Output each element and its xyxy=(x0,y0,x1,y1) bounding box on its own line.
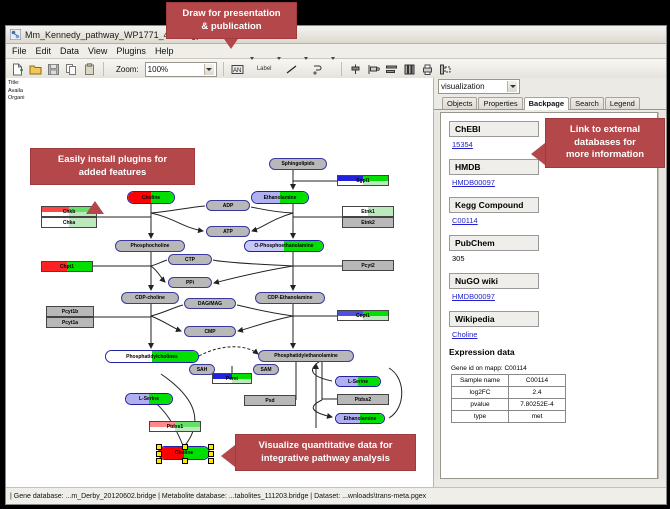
metabolite-node[interactable]: Ethanolamine xyxy=(335,413,385,424)
toolbar-separator-3 xyxy=(341,62,342,76)
pathway-edges xyxy=(6,78,433,487)
annotation-visualize: Visualize quantitative data forintegrati… xyxy=(235,434,416,471)
chevron-down-icon[interactable] xyxy=(507,81,517,92)
gene-label: Pcyt1b xyxy=(62,309,78,315)
pathvisio-app-icon xyxy=(10,29,21,40)
gene-label: Pemt xyxy=(226,376,238,382)
node-label: CMP xyxy=(204,329,215,335)
annotation-visualize-arrow xyxy=(221,445,235,467)
selection-handle[interactable] xyxy=(156,451,162,457)
metabolite-node[interactable]: ATP xyxy=(206,226,250,237)
metabolite-node[interactable]: L-Serine xyxy=(125,393,173,405)
gene-product-node[interactable]: Sgpl1 xyxy=(337,175,389,186)
gene-product-node[interactable]: Ptdss1 xyxy=(149,421,201,432)
node-label: SAM xyxy=(260,367,271,373)
expression-table-row: Sample nameC00114 xyxy=(452,375,566,387)
expression-value: 2.4 xyxy=(509,387,566,399)
gene-id-on-mapp: Gene id on mapp: C00114 xyxy=(451,365,649,372)
gene-label: Etnk1 xyxy=(361,209,375,215)
database-link[interactable]: Choline xyxy=(452,330,649,339)
gene-product-node[interactable]: Cept1 xyxy=(337,310,389,321)
expression-table: Sample nameC00114log2FC2.4pvalue7.80252E… xyxy=(451,374,566,423)
node-label: Sphingolipids xyxy=(281,161,314,167)
gene-label: Ptdss1 xyxy=(167,424,183,430)
database-link[interactable]: HMDB00097 xyxy=(452,178,649,187)
metabolite-node[interactable]: Phosphatidylethanolamine xyxy=(258,350,354,362)
gene-product-node[interactable]: Psd xyxy=(244,395,296,406)
expression-table-row: log2FC2.4 xyxy=(452,387,566,399)
metabolite-node[interactable]: O-Phosphoethanolamine xyxy=(244,240,324,252)
metabolite-node[interactable]: Ethanolamine xyxy=(251,191,309,204)
gene-label: Pcyt2 xyxy=(361,263,374,269)
expression-data-title: Expression data xyxy=(449,347,649,357)
node-label: ADP xyxy=(223,203,234,209)
metabolite-node[interactable]: Sphingolipids xyxy=(269,158,327,170)
anchor-icon[interactable] xyxy=(311,62,326,77)
metabolite-node[interactable]: Choline xyxy=(127,191,175,204)
line-dropdown[interactable] xyxy=(302,60,308,78)
tab-properties[interactable]: Properties xyxy=(478,97,522,109)
node-label: Phosphocholine xyxy=(131,243,170,249)
align-left-icon[interactable] xyxy=(366,62,381,77)
statusbar: | Gene database: ...m_Derby_20120602.bri… xyxy=(6,487,666,504)
gene-product-node[interactable]: Pcyt1a xyxy=(46,317,94,328)
menu-item-plugins[interactable]: Plugins xyxy=(116,46,146,56)
gene-product-node[interactable]: Etnk2 xyxy=(342,217,394,228)
toolbar-separator-2 xyxy=(223,62,224,76)
metabolite-node[interactable]: DAG/MAG xyxy=(184,298,236,309)
metabolite-node[interactable]: CTP xyxy=(168,254,212,265)
zoom-value: 100% xyxy=(148,65,204,74)
metabolite-node[interactable]: Phosphatidylcholines xyxy=(105,350,199,363)
group-icon[interactable] xyxy=(438,62,453,77)
annotation-plugins-line1: Easily install plugins foradded features xyxy=(58,154,167,178)
selection-handle[interactable] xyxy=(208,458,214,464)
selection-handle[interactable] xyxy=(208,444,214,450)
pathway-canvas-pane[interactable]: Title: Availa Organi xyxy=(6,78,434,487)
metabolite-node[interactable]: SAM xyxy=(253,364,279,375)
gene-product-node[interactable]: Pcyt1b xyxy=(46,306,94,317)
node-label: CDP-choline xyxy=(135,295,165,301)
database-link[interactable]: HMDB00097 xyxy=(452,292,649,301)
annotation-links-text: Link to externaldatabases formore inform… xyxy=(566,124,644,160)
visualization-bar: visualization xyxy=(434,78,666,95)
gene-label: Chka xyxy=(63,220,75,226)
expression-key: type xyxy=(452,411,509,423)
metabolite-node[interactable]: CDP-choline xyxy=(121,292,179,304)
node-label: L-Serine xyxy=(348,379,368,385)
annotation-visualize-line1: Visualize quantitative data forintegrati… xyxy=(259,440,393,464)
selection-handle[interactable] xyxy=(208,451,214,457)
metabolite-node[interactable]: CDP-Ethanolamine xyxy=(255,292,325,304)
gene-label: Ptdss2 xyxy=(355,397,371,403)
gene-label: Chpt1 xyxy=(60,264,74,270)
selection-handle[interactable] xyxy=(182,444,188,450)
gene-product-node[interactable]: Chka xyxy=(41,217,97,228)
database-header: ChEBI xyxy=(449,121,539,137)
expression-value: 7.80252E-4 xyxy=(509,399,566,411)
print-icon[interactable] xyxy=(420,62,435,77)
gene-product-node[interactable]: Pcyt2 xyxy=(342,260,394,271)
toolbar-separator-1 xyxy=(103,62,104,76)
tab-objects[interactable]: Objects xyxy=(442,97,477,109)
expression-key: Sample name xyxy=(452,375,509,387)
node-label: PPi xyxy=(186,280,194,286)
node-label: Phosphatidylcholines xyxy=(126,354,178,360)
toolbar: Zoom: 100% AN Label xyxy=(6,59,666,80)
pathway-diagram[interactable]: SphingolipidsCholineEthanolamineADPATPPh… xyxy=(6,78,433,487)
annotation-draw-text: Draw for presentation& publication xyxy=(182,8,280,32)
node-label: O-Phosphoethanolamine xyxy=(254,243,313,249)
expression-table-row: typemet xyxy=(452,411,566,423)
metabolite-node[interactable]: CMP xyxy=(184,326,236,337)
stack-icon[interactable] xyxy=(402,62,417,77)
database-header: NuGO wiki xyxy=(449,273,539,289)
chevron-down-icon[interactable] xyxy=(204,64,214,75)
label-icon[interactable]: Label xyxy=(257,62,272,77)
expression-key: log2FC xyxy=(452,387,509,399)
gene-label: Pcyt1a xyxy=(62,320,78,326)
align-center-icon[interactable] xyxy=(348,62,363,77)
application-window: Mm_Kennedy_pathway_WP1771_45176.gpml Fil… xyxy=(5,25,667,505)
menu-item-data[interactable]: Data xyxy=(60,46,79,56)
database-value: 305 xyxy=(452,254,649,263)
new-file-icon[interactable] xyxy=(10,62,25,77)
node-label: CTP xyxy=(185,257,195,263)
gene-label: Chkb xyxy=(63,209,76,215)
annotation-plugins-arrow xyxy=(86,201,104,214)
paste-icon[interactable] xyxy=(82,62,97,77)
visualization-combobox[interactable]: visualization xyxy=(438,79,520,94)
expression-key: pvalue xyxy=(452,399,509,411)
panel-left-gutter xyxy=(434,112,439,479)
selection-handle[interactable] xyxy=(156,458,162,464)
copy-icon[interactable] xyxy=(64,62,79,77)
open-folder-icon[interactable] xyxy=(28,62,43,77)
tab-backpage[interactable]: Backpage xyxy=(524,97,569,110)
tab-search[interactable]: Search xyxy=(570,97,604,109)
side-panel-tabs: Objects Properties Backpage Search Legen… xyxy=(434,95,666,110)
database-link[interactable]: C00114 xyxy=(452,216,649,225)
gene-label: Etnk2 xyxy=(361,220,375,226)
save-disk-icon[interactable] xyxy=(46,62,61,77)
gene-label: Psd xyxy=(265,398,274,404)
menu-item-file[interactable]: File xyxy=(12,46,27,56)
selection-handle[interactable] xyxy=(156,444,162,450)
node-label: Ethanolamine xyxy=(344,416,377,422)
anchor-dropdown[interactable] xyxy=(329,60,335,78)
line-icon[interactable] xyxy=(284,62,299,77)
gene-label: Sgpl1 xyxy=(356,178,370,184)
expression-value: C00114 xyxy=(509,375,566,387)
gene-label: Cept1 xyxy=(356,313,370,319)
metabolite-node[interactable]: PPi xyxy=(168,277,212,288)
database-header: Kegg Compound xyxy=(449,197,539,213)
gene-product-node[interactable]: Chpt1 xyxy=(41,261,93,272)
annotation-links: Link to externaldatabases formore inform… xyxy=(545,118,665,168)
expression-table-row: pvalue7.80252E-4 xyxy=(452,399,566,411)
metabolite-node[interactable]: Phosphocholine xyxy=(115,240,185,252)
node-label: CDP-Ethanolamine xyxy=(267,295,312,301)
menubar: File Edit Data View Plugins Help xyxy=(6,44,666,59)
node-label: Phosphatidylethanolamine xyxy=(274,353,338,359)
datanode-dropdown[interactable] xyxy=(248,60,254,78)
node-label: Ethanolamine xyxy=(264,195,297,201)
window-titlebar: Mm_Kennedy_pathway_WP1771_45176.gpml xyxy=(6,26,666,44)
gene-product-node[interactable]: Ptdss2 xyxy=(337,394,389,405)
zoom-combobox[interactable]: 100% xyxy=(145,62,217,77)
metabolite-node[interactable]: L-Serine xyxy=(335,376,381,387)
screenshot-root: Mm_Kennedy_pathway_WP1771_45176.gpml Fil… xyxy=(0,0,670,509)
node-label: DAG/MAG xyxy=(198,301,222,307)
node-label: Choline xyxy=(142,195,160,201)
database-header: PubChem xyxy=(449,235,539,251)
database-header: HMDB xyxy=(449,159,539,175)
menu-item-help[interactable]: Help xyxy=(155,46,174,56)
node-label: Choline xyxy=(175,450,193,456)
visualization-value: visualization xyxy=(441,82,507,91)
menu-item-edit[interactable]: Edit xyxy=(36,46,52,56)
distribute-vertical-icon[interactable] xyxy=(384,62,399,77)
node-label: ATP xyxy=(223,229,233,235)
menu-item-view[interactable]: View xyxy=(88,46,107,56)
metabolite-node[interactable]: ADP xyxy=(206,200,250,211)
zoom-label: Zoom: xyxy=(116,65,139,74)
annotation-draw: Draw for presentation& publication xyxy=(166,2,297,39)
database-header: Wikipedia xyxy=(449,311,539,327)
node-label: SAH xyxy=(197,367,208,373)
tab-legend[interactable]: Legend xyxy=(605,97,640,109)
selection-handle[interactable] xyxy=(182,458,188,464)
label-dropdown[interactable] xyxy=(275,60,281,78)
node-label: L-Serine xyxy=(139,396,159,402)
gene-product-node[interactable]: Pemt xyxy=(212,373,252,384)
gene-product-node[interactable]: Etnk1 xyxy=(342,206,394,217)
expression-value: met xyxy=(509,411,566,423)
annotation-plugins: Easily install plugins foradded features xyxy=(30,148,195,185)
datanode-icon[interactable]: AN xyxy=(230,62,245,77)
svg-text:AN: AN xyxy=(233,67,241,73)
statusbar-text: | Gene database: ...m_Derby_20120602.bri… xyxy=(10,493,426,500)
annotation-links-arrow xyxy=(531,143,545,165)
